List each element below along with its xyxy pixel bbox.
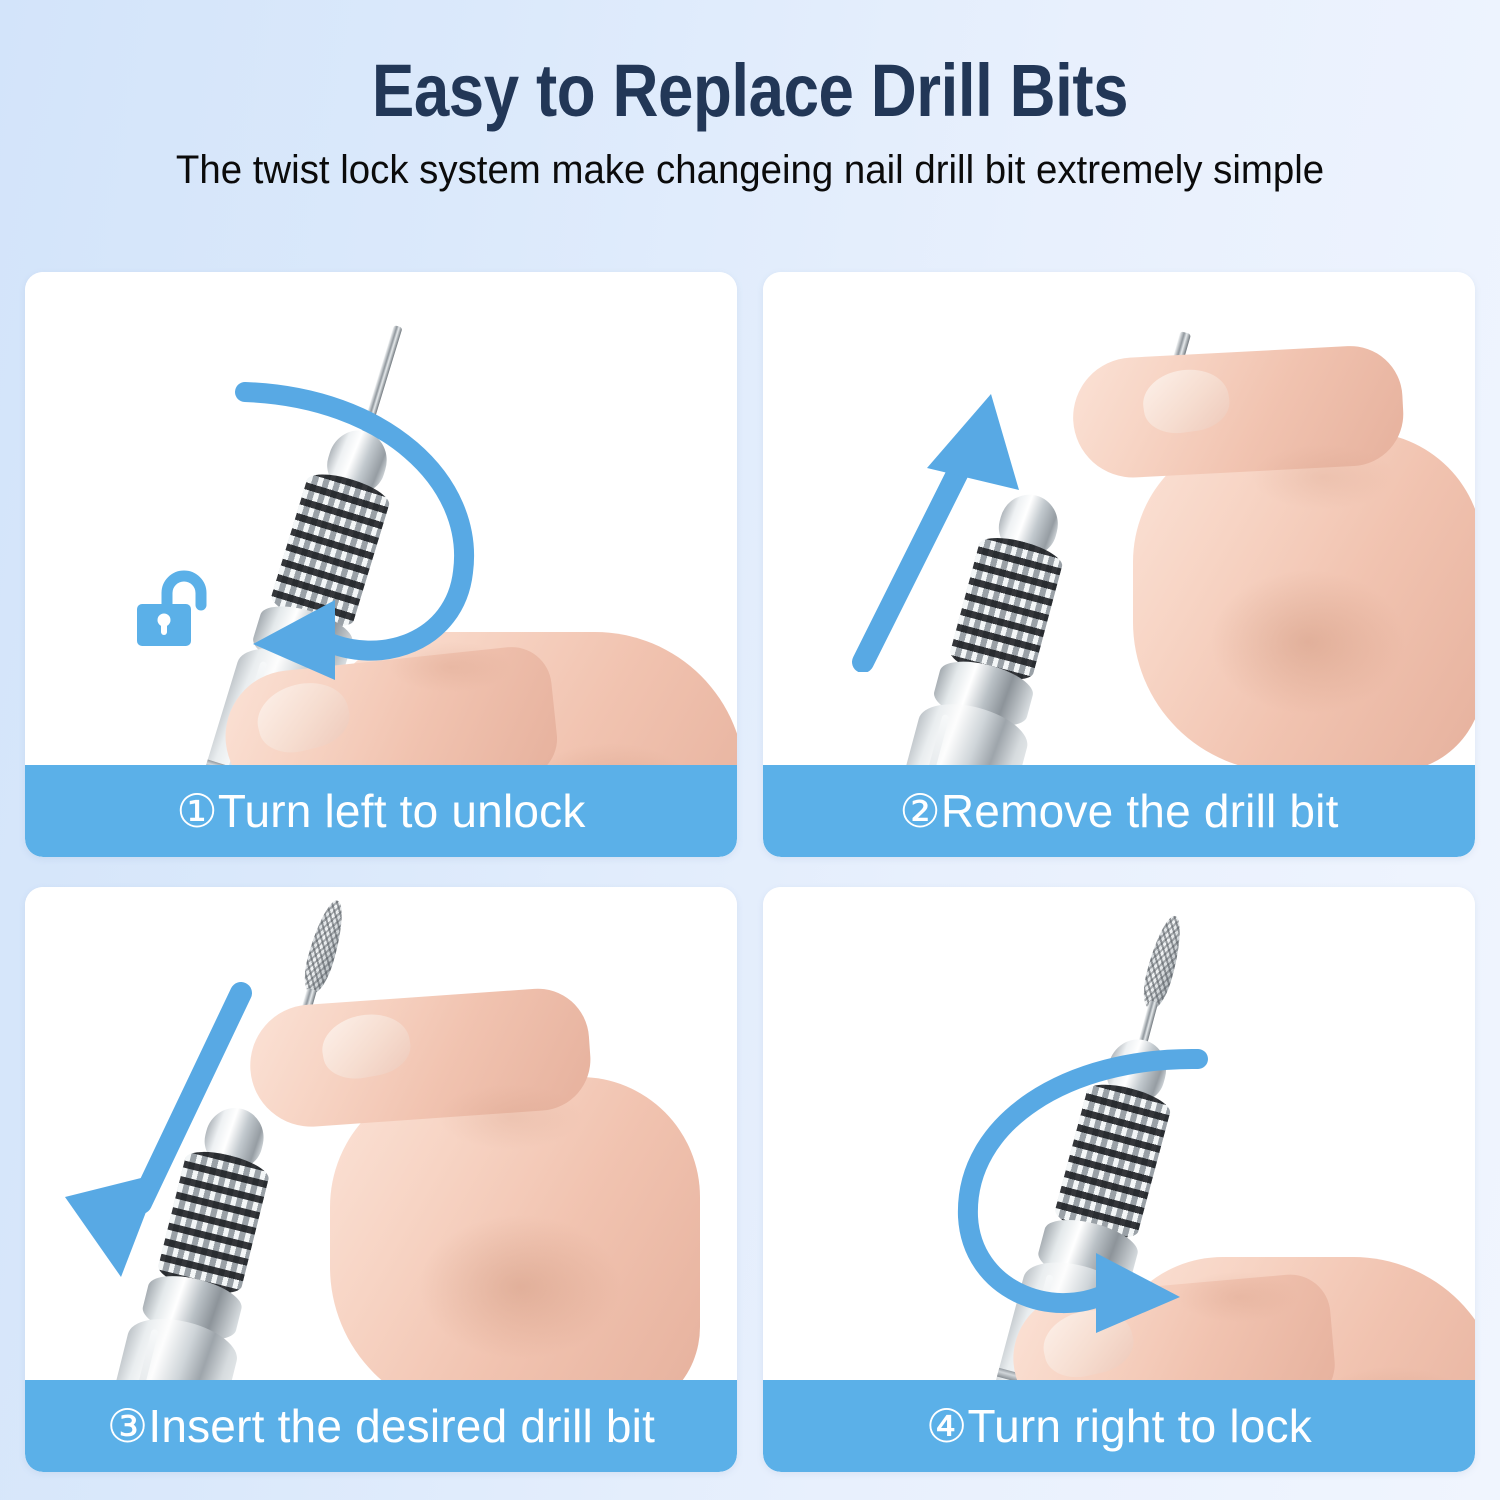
step-3-photo [25, 887, 737, 1380]
straight-down-arrow-icon [45, 977, 275, 1297]
hand [210, 957, 710, 1380]
step-card-3[interactable]: ③Insert the desired drill bit [25, 887, 737, 1472]
step-card-4[interactable]: ④Turn right to lock [763, 887, 1475, 1472]
curved-clockwise-arrow-icon [868, 1017, 1258, 1347]
step-2-caption: ②Remove the drill bit [763, 765, 1475, 857]
unlock-icon [133, 568, 217, 658]
page-header: Easy to Replace Drill Bits The twist loc… [0, 0, 1500, 190]
straight-up-arrow-icon [823, 382, 1043, 672]
curved-counterclockwise-arrow-icon [175, 362, 555, 692]
page-subtitle: The twist lock system make changeing nai… [30, 150, 1470, 190]
step-3-caption: ③Insert the desired drill bit [25, 1380, 737, 1472]
step-4-photo [763, 887, 1475, 1380]
step-4-caption: ④Turn right to lock [763, 1380, 1475, 1472]
step-card-1[interactable]: ①Turn left to unlock [25, 272, 737, 857]
page-title: Easy to Replace Drill Bits [105, 54, 1395, 128]
step-2-photo [763, 272, 1475, 765]
step-card-2[interactable]: ②Remove the drill bit [763, 272, 1475, 857]
step-1-caption: ①Turn left to unlock [25, 765, 737, 857]
steps-grid: ①Turn left to unlock [25, 272, 1475, 1472]
step-1-photo [25, 272, 737, 765]
hand [1013, 312, 1475, 765]
